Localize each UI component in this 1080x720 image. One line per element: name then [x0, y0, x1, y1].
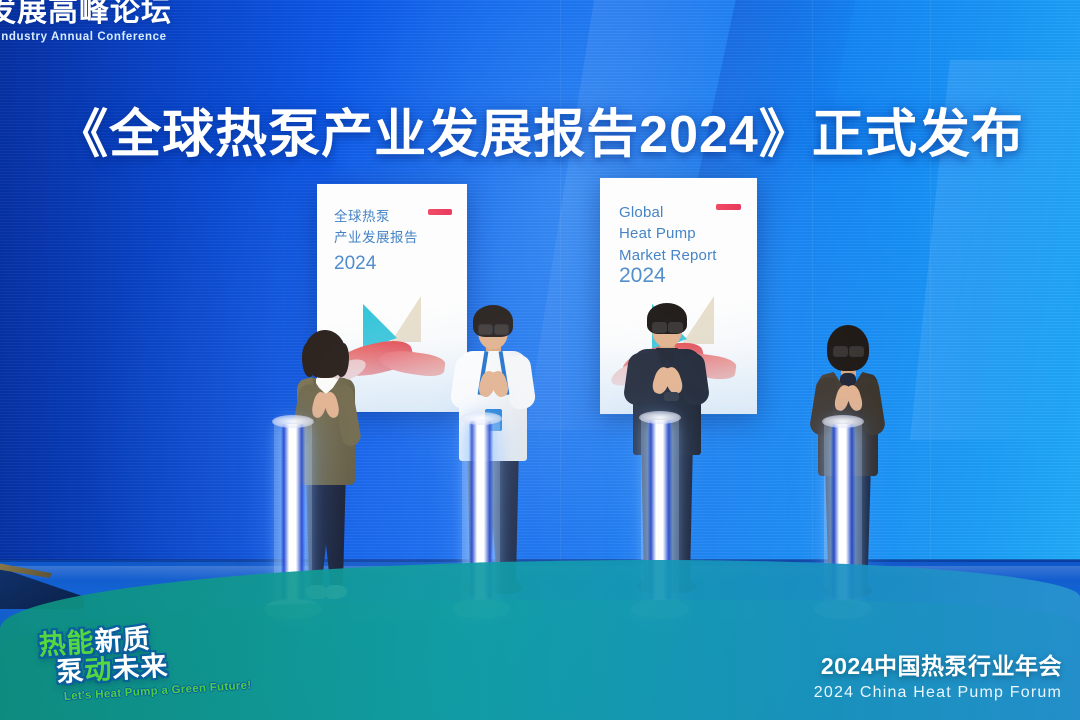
- corner-banner-cn: 发展高峰论坛: [0, 0, 172, 28]
- presenter-2-glasses: [494, 324, 509, 335]
- presenter-2-glasses: [478, 324, 493, 335]
- slogan-char-2: 未: [111, 652, 141, 684]
- presenter-4-glasses: [833, 346, 848, 357]
- corner-banner: 发展高峰论坛 p Industry Annual Conference: [0, 0, 172, 43]
- poster-year-en: 2024: [619, 264, 666, 288]
- presenter-3-glasses: [668, 322, 683, 333]
- event-slogan: 热能新质 泵动未来 Let's Heat Pump a Green Future…: [38, 620, 252, 705]
- poster-title-line1: Global: [619, 202, 717, 223]
- slogan-char-3: 来: [139, 650, 169, 682]
- brand-title-cn: 2024中国热泵行业年会: [814, 647, 1062, 681]
- poster-title-line2: 产业发展报告: [334, 228, 418, 249]
- slogan-char-1: 动: [83, 653, 113, 685]
- event-brand-lockup: 2024中国热泵行业年会 2024 China Heat Pump Forum: [814, 647, 1062, 702]
- pillar-cap-2: [460, 412, 502, 425]
- headline: 《全球热泵产业发展报告2024》正式发布: [0, 92, 1080, 167]
- poster-title-line2: Heat Pump: [619, 223, 717, 244]
- presenter-1-hair-side: [302, 343, 315, 377]
- pillar-cap-3: [639, 411, 681, 424]
- presenter-3-smartwatch: [664, 392, 679, 401]
- poster-title-line3: Market Report: [619, 245, 717, 266]
- brand-title-en: 2024 China Heat Pump Forum: [814, 684, 1062, 702]
- poster-title-line1: 全球热泵: [334, 207, 418, 228]
- slogan-char-0: 泵: [56, 655, 86, 687]
- headline-text: 《全球热泵产业发展报告2024》正式发布: [56, 106, 1024, 164]
- presenter-4-glasses: [849, 346, 864, 357]
- pillar-cap-1: [272, 415, 314, 428]
- conference-stage-photo: 发展高峰论坛 p Industry Annual Conference 《全球热…: [0, 0, 1080, 720]
- poster-title-en: Global Heat Pump Market Report: [619, 202, 717, 266]
- pillar-cap-4: [822, 415, 864, 428]
- poster-year-cn: 2024: [334, 253, 376, 275]
- presenter-3-glasses: [652, 322, 667, 333]
- corner-banner-en: p Industry Annual Conference: [0, 31, 172, 43]
- poster-title-cn: 全球热泵 产业发展报告: [334, 207, 418, 249]
- presenter-1-hair-side: [336, 343, 349, 377]
